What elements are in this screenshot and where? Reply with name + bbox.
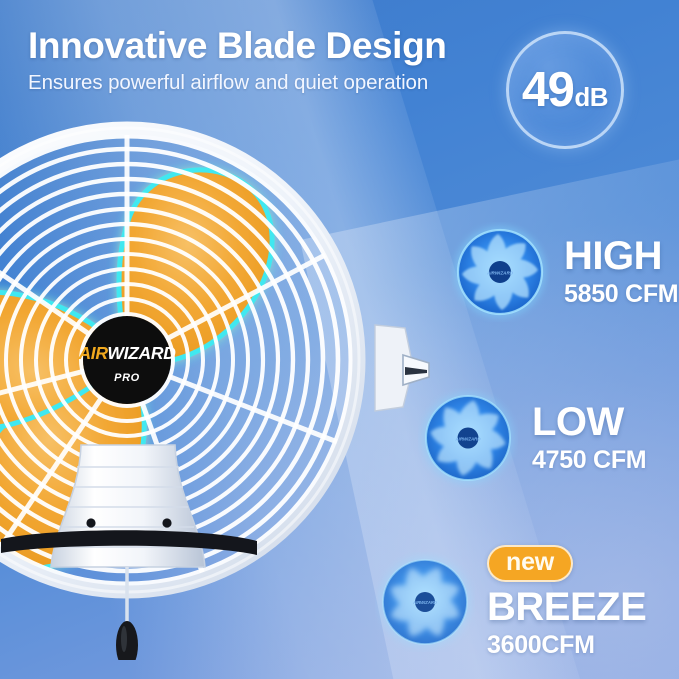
speed-cfm: 3600CFM	[487, 631, 646, 660]
noise-level-badge: 49 dB	[506, 31, 624, 149]
fan-blade-spin-icon: AIRWIZARD	[450, 222, 550, 322]
fan-blade-spin-icon: AIRWIZARD	[418, 388, 518, 488]
page-subtitle: Ensures powerful airflow and quiet opera…	[28, 71, 446, 95]
svg-text:AIRWIZARD: AIRWIZARD	[77, 343, 176, 363]
svg-text:AIRWIZARD: AIRWIZARD	[412, 600, 437, 605]
product-image: AIRWIZARD PRO	[0, 115, 435, 660]
speed-text-group: HIGH 5850 CFM	[564, 236, 678, 309]
speed-row-breeze[interactable]: AIRWIZARD new BREEZE 3600CFM	[375, 545, 646, 660]
fan-blade-spin-icon: AIRWIZARD	[375, 552, 475, 652]
noise-level-unit: dB	[574, 82, 608, 113]
brand-name-suffix: PRO	[114, 372, 140, 384]
heading-block: Innovative Blade Design Ensures powerful…	[28, 26, 446, 95]
fan-pull-cord	[116, 567, 138, 660]
svg-text:AIRWIZARD: AIRWIZARD	[486, 271, 514, 276]
noise-level-value-group: 49 dB	[522, 62, 608, 118]
product-marketing-poster: Innovative Blade Design Ensures powerful…	[0, 0, 679, 679]
new-badge: new	[487, 545, 573, 582]
speed-text-group: LOW 4750 CFM	[532, 402, 646, 475]
speed-name: LOW	[532, 402, 646, 442]
speed-name: HIGH	[564, 236, 678, 276]
speed-cfm: 5850 CFM	[564, 280, 678, 309]
speed-row-low[interactable]: AIRWIZARD LOW 4750 CFM	[418, 388, 646, 488]
noise-level-value: 49	[522, 62, 574, 118]
speed-name: BREEZE	[487, 587, 646, 627]
speed-cfm: 4750 CFM	[532, 446, 646, 475]
page-title: Innovative Blade Design	[28, 26, 446, 66]
brand-name-secondary: WIZARD	[107, 343, 176, 363]
pedestal-fan-illustration: AIRWIZARD PRO	[0, 115, 435, 660]
speed-text-group: new BREEZE 3600CFM	[487, 545, 646, 660]
brand-name-primary: AIR	[77, 343, 108, 363]
speed-row-high[interactable]: AIRWIZARD HIGH 5850 CFM	[450, 222, 678, 322]
svg-text:AIRWIZARD: AIRWIZARD	[454, 437, 481, 442]
